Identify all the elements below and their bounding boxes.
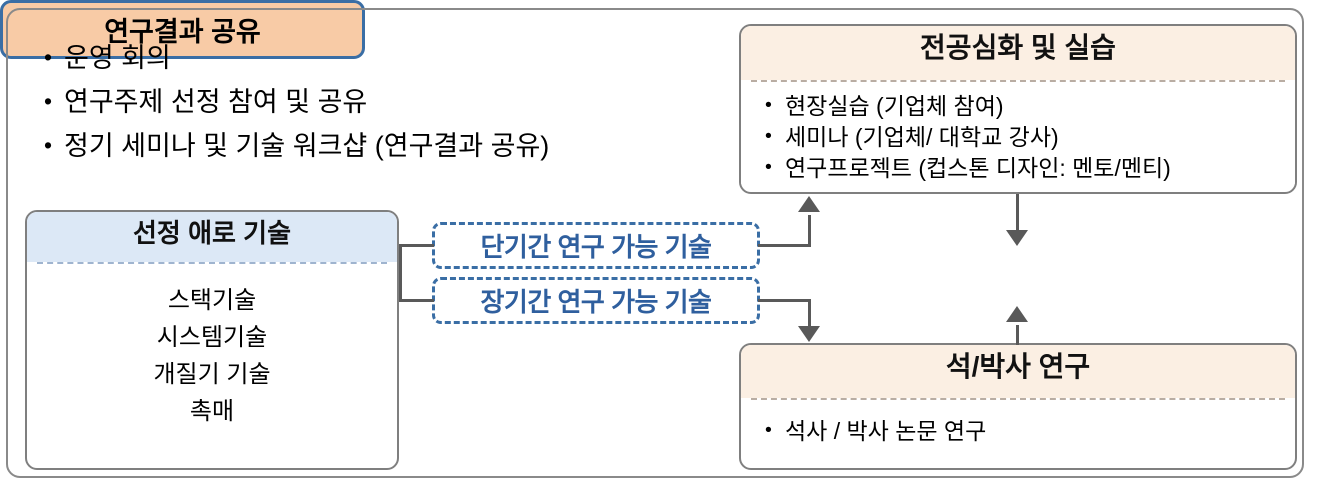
card-selected-tech-body: 스택기술 시스템기술 개질기 기술 촉매 bbox=[27, 264, 397, 430]
card-graduate-research[interactable]: 석/박사 연구 석사 / 박사 논문 연구 bbox=[739, 343, 1297, 470]
overview-bullet-item: 정기 세미나 및 기술 워크샵 (연구결과 공유) bbox=[38, 124, 698, 168]
overview-bullet-list: 운영 회의 연구주제 선정 참여 및 공유 정기 세미나 및 기술 워크샵 (연… bbox=[38, 36, 698, 168]
major-bullet-item: 현장실습 (기업체 참여) bbox=[759, 91, 1295, 122]
card-graduate-research-header: 석/박사 연구 bbox=[741, 345, 1295, 398]
arrow-down-to-share-box bbox=[1006, 230, 1028, 246]
arrow-up-to-major-box bbox=[798, 196, 820, 212]
card-major-deepening-header: 전공심화 및 실습 bbox=[741, 26, 1295, 80]
overview-bullet-item: 운영 회의 bbox=[38, 36, 698, 80]
card-selected-tech[interactable]: 선정 애로 기술 스택기술 시스템기술 개질기 기술 촉매 bbox=[25, 210, 399, 470]
label-short-term-tech[interactable]: 단기간 연구 가능 기술 bbox=[432, 222, 760, 269]
diagram-canvas: 운영 회의 연구주제 선정 참여 및 공유 정기 세미나 및 기술 워크샵 (연… bbox=[0, 0, 1319, 492]
card-major-deepening-body: 현장실습 (기업체 참여) 세미나 (기업체/ 대학교 강사) 연구프로젝트 (… bbox=[741, 82, 1295, 184]
label-short-term-tech-text: 단기간 연구 가능 기술 bbox=[481, 227, 712, 264]
major-bullet-item: 연구프로젝트 (컵스톤 디자인: 멘토/멘티) bbox=[759, 153, 1295, 184]
overview-bullet-item: 연구주제 선정 참여 및 공유 bbox=[38, 80, 698, 124]
connector-grad-to-share bbox=[1016, 325, 1019, 345]
grad-bullet-list: 석사 / 박사 논문 연구 bbox=[759, 416, 1295, 447]
major-bullet-list: 현장실습 (기업체 참여) 세미나 (기업체/ 대학교 강사) 연구프로젝트 (… bbox=[759, 91, 1295, 184]
connector-major-to-share bbox=[1016, 194, 1019, 230]
card-selected-tech-header: 선정 애로 기술 bbox=[27, 212, 397, 262]
connector-tech-to-short bbox=[399, 244, 434, 247]
connector-short-horizontal bbox=[758, 244, 811, 247]
major-bullet-item: 세미나 (기업체/ 대학교 강사) bbox=[759, 122, 1295, 153]
connector-tech-to-long bbox=[399, 299, 434, 302]
tech-list-item: 촉매 bbox=[27, 393, 397, 430]
connector-short-vertical bbox=[808, 215, 811, 247]
tech-list-item: 개질기 기술 bbox=[27, 356, 397, 393]
label-long-term-tech[interactable]: 장기간 연구 가능 기술 bbox=[432, 277, 760, 324]
tech-list-item: 시스템기술 bbox=[27, 319, 397, 356]
connector-long-horizontal bbox=[758, 299, 811, 302]
card-graduate-research-body: 석사 / 박사 논문 연구 bbox=[741, 400, 1295, 447]
tech-list-item: 스택기술 bbox=[27, 282, 397, 319]
connector-tech-vertical-junction bbox=[399, 244, 402, 302]
grad-bullet-item: 석사 / 박사 논문 연구 bbox=[759, 416, 1295, 447]
card-major-deepening[interactable]: 전공심화 및 실습 현장실습 (기업체 참여) 세미나 (기업체/ 대학교 강사… bbox=[739, 24, 1297, 194]
label-long-term-tech-text: 장기간 연구 가능 기술 bbox=[481, 282, 712, 319]
connector-long-vertical bbox=[808, 299, 811, 327]
arrow-down-to-grad-box bbox=[798, 326, 820, 342]
arrow-up-to-share-box bbox=[1006, 306, 1028, 322]
